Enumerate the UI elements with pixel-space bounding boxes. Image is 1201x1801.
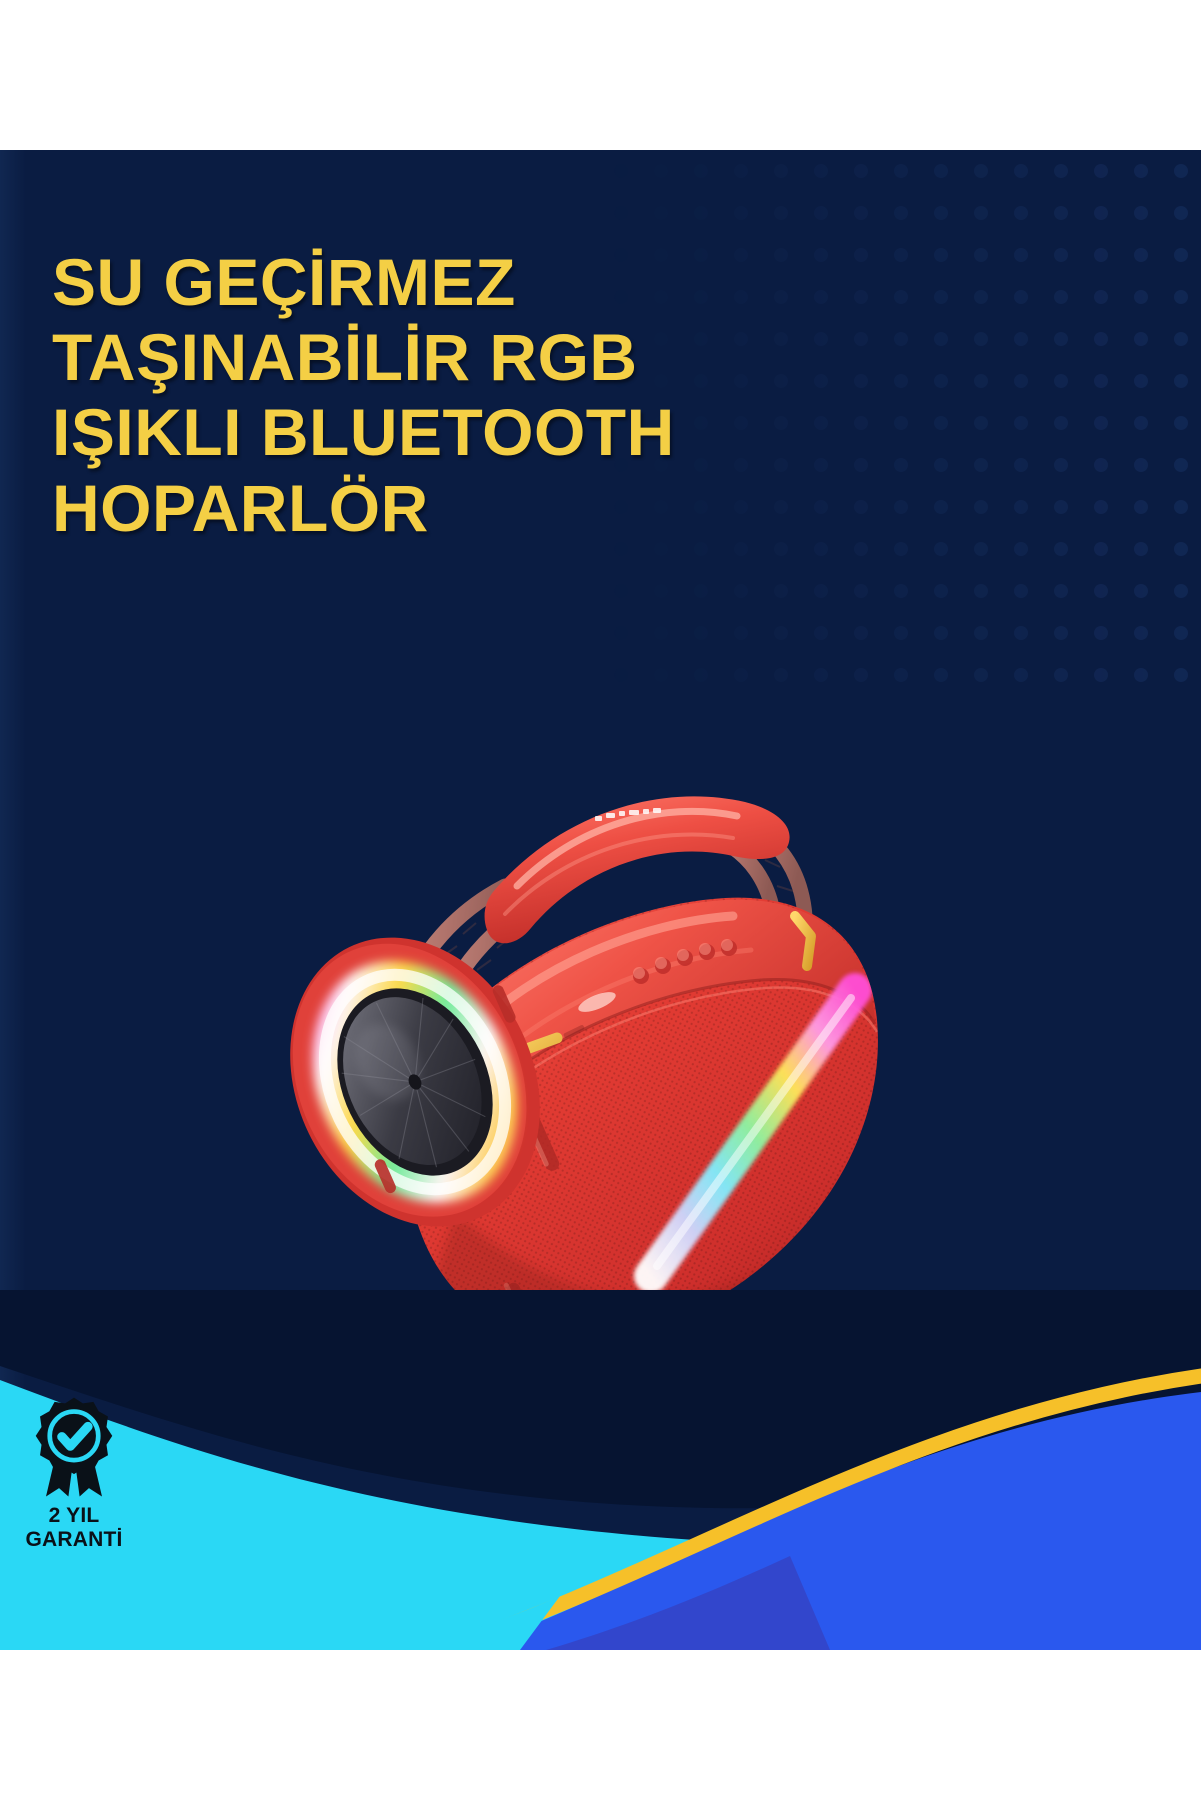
poster-panel: SU GEÇİRMEZ TAŞINABİLİR RGB IŞIKLI BLUET… (0, 150, 1201, 1650)
warranty-word-label: GARANTİ (8, 1528, 140, 1552)
bottom-wave-decoration (0, 1170, 1201, 1650)
warranty-badge: 2 YIL GARANTİ (8, 1392, 140, 1562)
product-poster: SU GEÇİRMEZ TAŞINABİLİR RGB IŞIKLI BLUET… (0, 0, 1201, 1801)
verified-rosette-check-icon (18, 1392, 130, 1504)
headline-text: SU GEÇİRMEZ TAŞINABİLİR RGB IŞIKLI BLUET… (52, 245, 812, 546)
warranty-years-label: 2 YIL (8, 1504, 140, 1528)
